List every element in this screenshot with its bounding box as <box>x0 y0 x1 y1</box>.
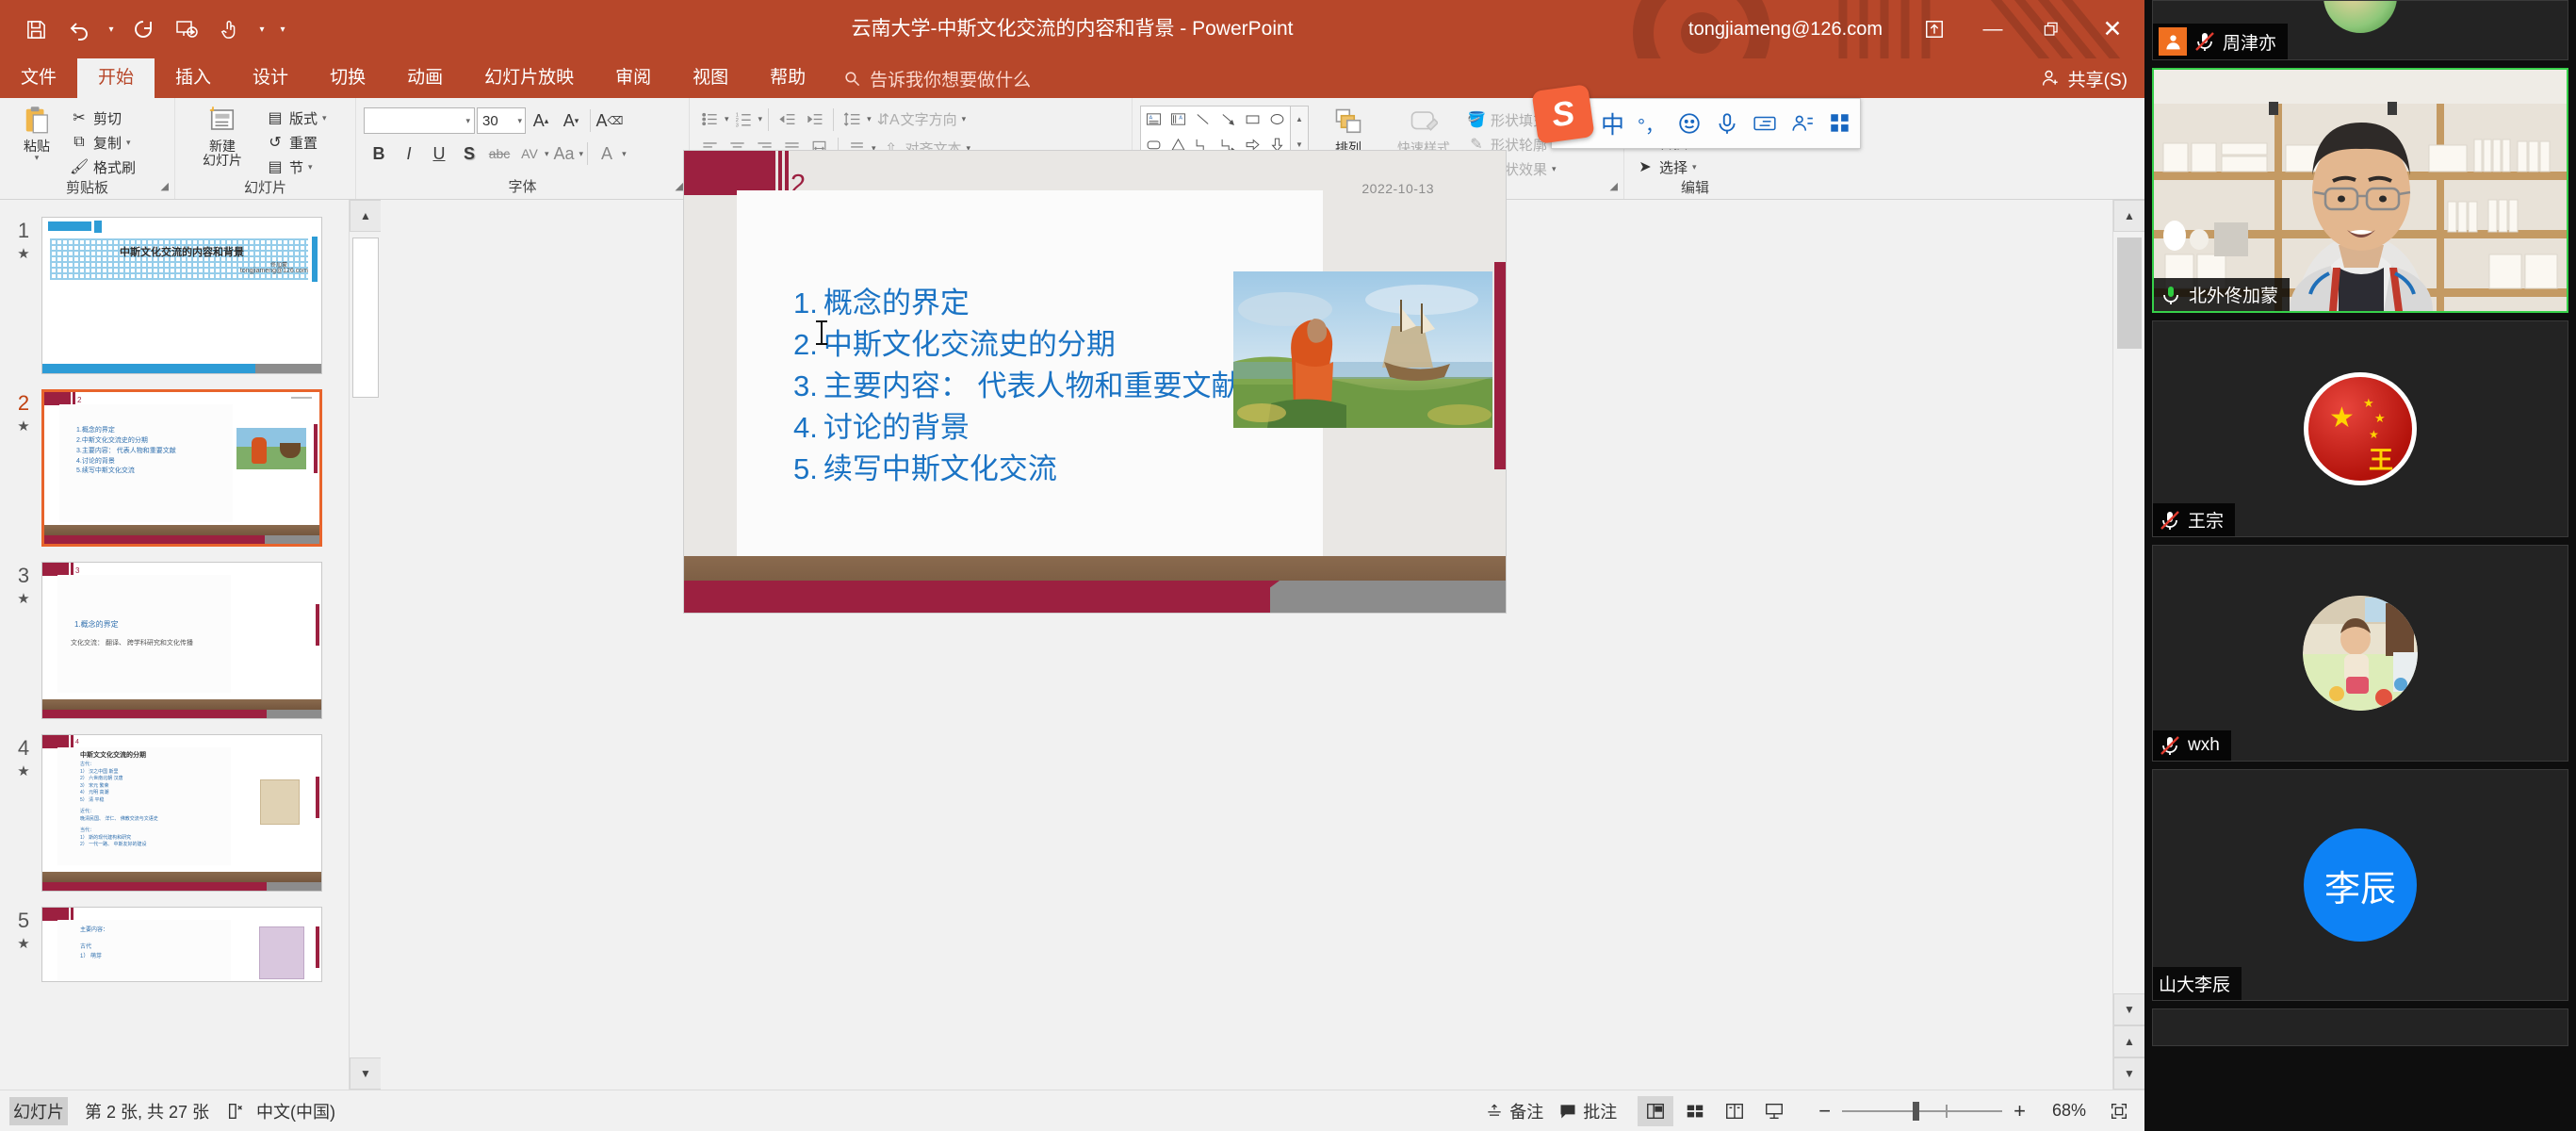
paste-icon <box>23 106 51 139</box>
new-slide-label-2: 幻灯片 <box>203 154 242 168</box>
mic-muted-icon <box>2193 30 2216 53</box>
tab-view[interactable]: 视图 <box>672 58 749 98</box>
increase-indent-button[interactable] <box>802 107 827 132</box>
thumb1-title: 中斯文化交流的内容和背景 <box>42 244 321 259</box>
view-slideshow-button[interactable] <box>1756 1096 1792 1126</box>
slide-list-item-5[interactable]: 5.续写中斯文化交流 <box>793 449 1283 490</box>
notes-icon <box>1485 1102 1504 1121</box>
avatar: ★ ★ ★ ★ 王 <box>2304 372 2417 485</box>
share-person-icon <box>2042 69 2061 88</box>
thumbnail-number-5: 5★ <box>6 907 41 951</box>
select-label: 选择 <box>1659 157 1687 177</box>
ribbon-group-clipboard: 粘贴 ▾ ✂ 剪切 ⧉ 复制 ▾ <box>0 98 175 199</box>
drawing-dialog-launcher[interactable]: ◢ <box>1610 177 1618 196</box>
canvas-scroll-down-icon[interactable]: ▼ <box>2113 993 2144 1025</box>
mic-muted-icon <box>2159 509 2181 532</box>
thumb4-line-4: 3） 宋元 繁荣 <box>80 783 158 791</box>
slide-canvas[interactable]: 2 2022-10-13 1.概念的界定 2.中斯文化交流史的分期 3.主要内容… <box>381 200 2144 1090</box>
powerpoint-window: ▾ ▾ ▾ <box>0 0 2144 1131</box>
participant-label-5: 山大李辰 <box>2153 967 2242 1000</box>
thumb3-line-1: 文化交流： 翻译、 跨学科研究和文化传播 <box>71 638 193 647</box>
slide-outline-list[interactable]: 1.概念的界定 2.中斯文化交流史的分期 3.主要内容： 代表人物和重要文献 4… <box>793 283 1283 490</box>
search-icon <box>843 70 861 88</box>
thumbnail-number-1: 1★ <box>6 217 41 261</box>
slide-text-1: 概念的界定 <box>823 287 970 320</box>
italic-button[interactable]: I <box>394 139 424 168</box>
star-icon: ★ <box>6 419 41 434</box>
mic-on-icon <box>2160 284 2182 306</box>
font-color-dropdown-icon[interactable]: ▾ <box>622 149 627 159</box>
select-dropdown-icon[interactable]: ▾ <box>1692 162 1697 172</box>
zoom-slider[interactable]: − + <box>1807 1099 2037 1123</box>
participant-name-2: 北外佟加蒙 <box>2189 282 2278 307</box>
editing-group-label: 编辑 <box>1632 179 1758 199</box>
participant-label-2: 北外佟加蒙 <box>2154 278 2290 311</box>
shape-ellipse-icon[interactable] <box>1265 107 1290 132</box>
slide-list-item-3[interactable]: 3.主要内容： 代表人物和重要文献 <box>793 366 1283 407</box>
quick-styles-icon <box>1410 107 1438 141</box>
slides-group-label: 幻灯片 <box>183 179 348 199</box>
participants-panel[interactable]: 周津亦 <box>2144 0 2576 1131</box>
svg-text:A: A <box>1179 116 1182 122</box>
participant-label-4: wxh <box>2153 730 2231 761</box>
comments-button[interactable]: 批注 <box>1558 1099 1617 1123</box>
title-bar: ▾ ▾ ▾ <box>0 0 2144 58</box>
slide-sorter-icon <box>1685 1101 1705 1122</box>
thumbnail-row-1[interactable]: 1★ 中斯文化交流的内容和背景 佟加蒙 tongjiameng@126.com <box>0 209 381 382</box>
slide-marker-2: 2. <box>793 328 818 361</box>
canvas-scroll-thumb[interactable] <box>2117 238 2142 349</box>
shape-line-icon[interactable] <box>1191 107 1215 132</box>
fit-slide-button[interactable] <box>2101 1096 2137 1126</box>
slide-text-3: 主要内容： 代表人物和重要文献 <box>823 369 1241 402</box>
ime-mode-toggle[interactable]: 中 <box>1601 107 1624 140</box>
line-spacing-button[interactable] <box>840 107 865 132</box>
thumbnail-row-3[interactable]: 3★ 3 1.概念的界定 文化交流： 翻译、 跨学科研究和文化传播 <box>0 554 381 727</box>
decrease-indent-button[interactable] <box>774 107 800 132</box>
tab-home[interactable]: 开始 <box>77 58 155 98</box>
tab-file[interactable]: 文件 <box>0 58 77 98</box>
thumbnail-row-2[interactable]: 2★ 2 1.概念的界定 2.中斯文化交流史的分期 3.主要内容： 代表人物和重… <box>0 382 381 554</box>
font-size-dropdown-icon[interactable]: ▾ <box>517 116 522 126</box>
fit-to-window-icon <box>2109 1101 2129 1122</box>
host-icon <box>2159 27 2187 56</box>
avatar <box>2303 596 2418 711</box>
ribbon-group-font: ▾ 30 ▾ A▴ A▾ A⌫ B I U <box>356 98 690 199</box>
tab-animations[interactable]: 动画 <box>386 58 464 98</box>
cursor-icon: ➤ <box>1636 157 1655 176</box>
copy-icon: ⧉ <box>70 134 89 151</box>
screen: ▾ ▾ ▾ <box>0 0 2576 1131</box>
microphone-icon[interactable] <box>1715 111 1739 136</box>
slide-list-item-2[interactable]: 2.中斯文化交流史的分期 <box>793 324 1283 366</box>
contacts-icon[interactable] <box>1790 111 1815 136</box>
tab-slideshow[interactable]: 幻灯片放映 <box>464 58 595 98</box>
bullet-list-icon <box>701 110 719 128</box>
layout-icon: ▤ <box>266 108 285 127</box>
zoom-level[interactable]: 68% <box>2052 1101 2086 1121</box>
cut-button[interactable]: ✂ 剪切 <box>66 106 139 130</box>
format-painter-label: 格式刷 <box>93 157 136 177</box>
view-normal-button[interactable] <box>1638 1096 1673 1126</box>
status-language[interactable]: 中文(中国) <box>256 1099 335 1123</box>
participant-tile-3[interactable]: ★ ★ ★ ★ 王 王宗 <box>2152 320 2568 537</box>
thumbnail-number-3: 3★ <box>6 562 41 606</box>
paste-label: 粘贴 <box>24 139 50 154</box>
account-email[interactable]: tongjiameng@126.com <box>1666 19 1905 41</box>
slide-thumbnail-1[interactable]: 中斯文化交流的内容和背景 佟加蒙 tongjiameng@126.com <box>41 217 322 374</box>
thumb2-line-3: 3.主要内容： 代表人物和重要文献 <box>76 447 176 457</box>
cut-label: 剪切 <box>93 108 122 128</box>
tab-review[interactable]: 审阅 <box>595 58 672 98</box>
layout-label: 版式 <box>289 108 318 128</box>
normal-view-icon <box>1645 1101 1666 1122</box>
bold-button[interactable]: B <box>364 139 394 168</box>
avatar <box>2323 0 2397 33</box>
font-name-dropdown-icon[interactable]: ▾ <box>465 116 470 126</box>
decrease-font-size-button[interactable]: A▾ <box>556 107 586 135</box>
spellcheck-icon[interactable] <box>226 1101 247 1122</box>
paste-dropdown-icon[interactable]: ▾ <box>35 154 40 162</box>
layout-dropdown-icon[interactable]: ▾ <box>322 113 327 123</box>
select-button[interactable]: ➤ 选择 ▾ <box>1632 155 1701 179</box>
clipboard-group-label: 剪贴板◢ <box>8 179 167 199</box>
shape-vertical-textbox-icon[interactable]: A <box>1166 107 1190 132</box>
text-cursor <box>821 320 823 345</box>
thumb3-title: 1.概念的界定 <box>74 619 119 630</box>
shape-rectangle-icon[interactable] <box>1240 107 1264 132</box>
slide-list-item-4[interactable]: 4.讨论的背景 <box>793 407 1283 449</box>
clear-formatting-button[interactable]: A⌫ <box>595 107 625 135</box>
text-direction-label: 文字方向 <box>901 109 957 129</box>
participant-name-4: wxh <box>2188 735 2220 756</box>
thumb2-line-2: 2.中斯文化交流史的分期 <box>76 436 176 447</box>
status-bar: 幻灯片 第 2 张, 共 27 张 中文(中国) 备注 <box>0 1090 2144 1131</box>
section-dropdown-icon[interactable]: ▾ <box>308 162 313 172</box>
ime-toolbar[interactable]: S 中 °， <box>1551 98 1861 149</box>
text-direction-button[interactable]: ⇵A 文字方向 ▾ <box>873 107 970 132</box>
decrease-indent-icon <box>778 110 796 128</box>
status-left: 幻灯片 第 2 张, 共 27 张 中文(中国) <box>0 1097 335 1125</box>
tell-me-box[interactable]: 告诉我你想要做什么 <box>826 58 1031 98</box>
emoji-icon[interactable] <box>1677 111 1702 136</box>
participant-name-5: 山大李辰 <box>2159 971 2230 996</box>
font-dialog-launcher[interactable]: ◢ <box>676 177 683 196</box>
layout-button[interactable]: ▤ 版式 ▾ <box>262 106 331 130</box>
slide-marker-3: 3. <box>793 369 818 402</box>
reset-button[interactable]: ↺ 重置 <box>262 130 331 155</box>
section-icon: ▤ <box>266 157 285 176</box>
participant-tile-6[interactable] <box>2152 1008 2568 1046</box>
tab-help[interactable]: 帮助 <box>749 58 826 98</box>
scissors-icon: ✂ <box>70 108 89 127</box>
participant-label-1: 周津亦 <box>2153 24 2288 59</box>
numbered-list-icon: 1 2 3 <box>735 110 753 128</box>
thumbnail-row-4[interactable]: 4★ 4 中斯文文化交流的分期 古代： 1） 汉之中国 斯里 2） 六世南北朝 … <box>0 727 381 899</box>
thumb-scroll-down-icon[interactable]: ▼ <box>350 1057 381 1090</box>
text-direction-icon: ⇵A <box>877 110 896 129</box>
reading-view-icon <box>1724 1101 1745 1122</box>
line-spacing-dropdown-icon[interactable]: ▾ <box>867 114 872 124</box>
font-size-value: 30 <box>482 113 498 129</box>
font-group-label: 字体◢ <box>364 178 681 199</box>
section-label: 节 <box>289 157 303 177</box>
svg-text:A: A <box>1149 116 1152 122</box>
tell-me-label: 告诉我你想要做什么 <box>870 66 1031 91</box>
thumb4-line-7: 近代： <box>80 809 158 816</box>
slide-thumbnails-pane[interactable]: 1★ 中斯文化交流的内容和背景 佟加蒙 tongjiameng@126.com <box>0 200 381 1090</box>
participant-name-1: 周津亦 <box>2223 29 2276 55</box>
increase-font-size-button[interactable]: A▴ <box>526 107 556 135</box>
arrange-icon <box>1334 107 1362 141</box>
shape-textbox-icon[interactable]: A <box>1141 107 1166 132</box>
thumbnail-number-4: 4★ <box>6 734 41 779</box>
clipboard-dialog-launcher[interactable]: ◢ <box>161 177 169 196</box>
keyboard-icon[interactable] <box>1753 111 1777 136</box>
thumb4-line-3: 2） 六世南北朝 汉唐 <box>80 776 158 783</box>
next-slide-button[interactable]: ▼ <box>2113 1057 2144 1090</box>
thumb1-sub2: tongjiameng@126.com <box>240 268 308 274</box>
tab-transitions[interactable]: 切换 <box>309 58 386 98</box>
notes-button[interactable]: 备注 <box>1485 1099 1543 1123</box>
ribbon-display-options-icon[interactable] <box>1905 0 1964 58</box>
thumb5-line-2: 1） 萌芽 <box>80 951 102 959</box>
webcam-video <box>2154 70 2567 311</box>
thumb5-title: 主要内容： <box>80 925 108 933</box>
work-area: 1★ 中斯文化交流的内容和背景 佟加蒙 tongjiameng@126.com <box>0 200 2144 1090</box>
participant-label-3: 王宗 <box>2153 503 2235 536</box>
text-direction-dropdown-icon[interactable]: ▾ <box>962 114 967 124</box>
notes-label: 备注 <box>1509 1099 1543 1123</box>
comment-icon <box>1558 1102 1577 1121</box>
bullets-button[interactable] <box>697 107 723 132</box>
thumb2-line-1: 1.概念的界定 <box>76 426 176 436</box>
status-slide-label: 幻灯片 <box>9 1097 68 1125</box>
character-spacing-button[interactable]: AV <box>514 139 545 168</box>
increase-indent-icon <box>806 110 823 128</box>
thumb4-line-10: 1） 斯的现代建构和研究 <box>80 835 158 843</box>
slide-right-accent-bar <box>1494 262 1506 469</box>
star-icon: ★ <box>6 937 41 951</box>
ribbon-group-slides: 新建 幻灯片 ▤ 版式 ▾ ↺ 重置 <box>175 98 356 199</box>
slide-thumbnail-5[interactable]: 主要内容： 古代 1） 萌芽 <box>41 907 322 982</box>
clipboard-icon <box>23 106 51 134</box>
sogou-logo-icon[interactable]: S <box>1531 84 1594 144</box>
reset-label: 重置 <box>289 133 318 153</box>
slide-thumbnail-2[interactable]: 2 1.概念的界定 2.中斯文化交流史的分期 3.主要内容： 代表人物和重要文献… <box>41 389 322 547</box>
canvas-scrollbar[interactable]: ▲ ▼ ▲ ▼ <box>2112 200 2144 1090</box>
thumb-scroll-up-icon[interactable]: ▲ <box>350 200 381 232</box>
star-icon: ★ <box>6 764 41 779</box>
numbering-button[interactable]: 1 2 3 <box>731 107 757 132</box>
mic-muted-icon <box>2159 734 2181 757</box>
star-icon: ★ <box>6 247 41 261</box>
paste-button[interactable]: 粘贴 ▾ <box>8 104 66 162</box>
minimize-button[interactable]: — <box>1964 0 2022 58</box>
slide-date-label: 2022-10-13 <box>1361 181 1434 196</box>
participant-tile-1[interactable]: 周津亦 <box>2152 0 2568 60</box>
text-shadow-button[interactable]: S <box>454 139 484 168</box>
participant-tile-5[interactable]: 李辰 山大李辰 <box>2152 769 2568 1001</box>
thumb4-line-8: 晚清民国、 洋仁、 佛教交流与文语史 <box>80 816 158 824</box>
thumbnails-scrollbar[interactable]: ▲ ▼ <box>349 200 381 1090</box>
monk-painting-icon <box>1233 271 1492 428</box>
new-slide-icon <box>208 106 236 139</box>
zoom-out-button[interactable]: − <box>1807 1099 1842 1123</box>
slide-marker-1: 1. <box>793 287 818 320</box>
canvas-scroll-up-icon[interactable]: ▲ <box>2113 200 2144 232</box>
view-slide-sorter-button[interactable] <box>1677 1096 1713 1126</box>
thumbnail-row-5[interactable]: 5★ 主要内容： 古代 1） 萌芽 <box>0 899 381 990</box>
share-label: 共享(S) <box>2068 66 2128 91</box>
underline-button[interactable]: U <box>424 139 454 168</box>
slide-header-block <box>684 151 775 195</box>
status-right: 备注 批注 <box>1485 1096 2137 1126</box>
slide-marker-4: 4. <box>793 411 818 444</box>
thumb4-title: 中斯文文化交流的分期 <box>80 750 146 760</box>
format-painter-button[interactable]: 🖌 格式刷 <box>66 155 139 179</box>
font-size-input[interactable]: 30 ▾ <box>477 107 526 134</box>
slideshow-icon <box>1764 1101 1785 1122</box>
zoom-track[interactable] <box>1842 1110 2002 1112</box>
thumb-scroll-thumb[interactable] <box>352 238 379 398</box>
thumb5-line-1: 古代 <box>80 942 91 950</box>
slide-picture[interactable] <box>1233 271 1492 428</box>
change-case-button[interactable]: Aa <box>549 139 579 168</box>
restore-button[interactable] <box>2022 0 2080 58</box>
slide-text-5: 续写中斯文化交流 <box>823 452 1057 485</box>
change-case-dropdown-icon[interactable]: ▾ <box>579 149 584 159</box>
copy-dropdown-icon[interactable]: ▾ <box>126 138 131 148</box>
close-button[interactable]: ✕ <box>2080 0 2144 58</box>
thumb2-line-5: 5.续写中斯文化交流 <box>76 467 176 477</box>
avatar-initials: 李辰 <box>2304 828 2417 942</box>
thumb4-line-6: 5） 清 平稳 <box>80 797 158 805</box>
slide-text-4: 讨论的背景 <box>823 411 970 444</box>
thumb4-line-5: 4） 元明 高潮 <box>80 790 158 797</box>
slide-thumbnail-3[interactable]: 3 1.概念的界定 文化交流： 翻译、 跨学科研究和文化传播 <box>41 562 322 719</box>
previous-slide-button[interactable]: ▲ <box>2113 1025 2144 1057</box>
ribbon-tabs: 文件 开始 插入 设计 切换 动画 幻灯片放映 审阅 视图 帮助 告诉我你想要做… <box>0 58 2144 98</box>
share-button[interactable]: 共享(S) <box>2042 58 2128 98</box>
tab-design[interactable]: 设计 <box>232 58 309 98</box>
paintbrush-icon: 🖌 <box>70 157 89 176</box>
copy-label: 复制 <box>93 133 122 153</box>
view-reading-button[interactable] <box>1717 1096 1753 1126</box>
thumb4-line-11: 2） 一代一路、 中斯友好的建设 <box>80 842 158 849</box>
slide-marker-5: 5. <box>793 452 818 485</box>
comments-label: 批注 <box>1583 1099 1617 1123</box>
new-slide-button[interactable]: 新建 幻灯片 <box>183 104 262 167</box>
bullets-dropdown-icon[interactable]: ▾ <box>725 114 729 124</box>
svg-text:3: 3 <box>735 123 738 128</box>
star-icon: ★ <box>6 592 41 606</box>
baby-photo-icon <box>2303 596 2418 711</box>
apps-icon[interactable] <box>1828 111 1852 136</box>
font-name-input[interactable]: ▾ <box>364 107 475 134</box>
copy-button[interactable]: ⧉ 复制 ▾ <box>66 130 139 155</box>
participant-tile-4[interactable]: wxh <box>2152 545 2568 762</box>
new-slide-label-1: 新建 <box>209 139 236 154</box>
status-page-indicator[interactable]: 第 2 张, 共 27 张 <box>85 1099 209 1123</box>
shape-effects-dropdown-icon[interactable]: ▾ <box>1552 164 1557 174</box>
line-spacing-icon <box>843 110 861 128</box>
zoom-in-button[interactable]: + <box>2002 1099 2037 1123</box>
thumb2-line-4: 4.讨论的背景 <box>76 457 176 467</box>
font-color-button[interactable]: A <box>592 139 622 168</box>
slide-list-item-1[interactable]: 1.概念的界定 <box>793 283 1283 324</box>
numbering-dropdown-icon[interactable]: ▾ <box>758 114 763 124</box>
thumbnail-number-2: 2★ <box>6 389 41 434</box>
zoom-handle[interactable] <box>1913 1102 1919 1121</box>
current-slide[interactable]: 2 2022-10-13 1.概念的界定 2.中斯文化交流史的分期 3.主要内容… <box>684 151 1506 613</box>
strikethrough-button[interactable]: abc <box>484 139 514 168</box>
tab-insert[interactable]: 插入 <box>155 58 232 98</box>
section-button[interactable]: ▤ 节 ▾ <box>262 155 331 179</box>
slide-thumbnail-4[interactable]: 4 中斯文文化交流的分期 古代： 1） 汉之中国 斯里 2） 六世南北朝 汉唐 … <box>41 734 322 892</box>
reset-icon: ↺ <box>266 133 285 152</box>
thumb4-line-2: 1） 汉之中国 斯里 <box>80 769 158 777</box>
participant-name-3: 王宗 <box>2188 507 2224 533</box>
slide-bottom-bar <box>684 581 1506 613</box>
gallery-scroll-up-icon[interactable]: ▲ <box>1291 107 1308 132</box>
thumb4-line-9: 当代： <box>80 828 158 835</box>
thumb4-line-1: 古代： <box>80 762 158 769</box>
ime-punctuation-toggle[interactable]: °， <box>1638 110 1664 138</box>
slide-text-2: 中斯文化交流史的分期 <box>823 328 1116 361</box>
titlebar-right: tongjiameng@126.com — ✕ <box>1666 0 2144 58</box>
shape-arrow-icon[interactable] <box>1215 107 1240 132</box>
shape-fill-icon: 🪣 <box>1467 110 1486 129</box>
participant-tile-2[interactable]: 北外佟加蒙 <box>2152 68 2568 313</box>
